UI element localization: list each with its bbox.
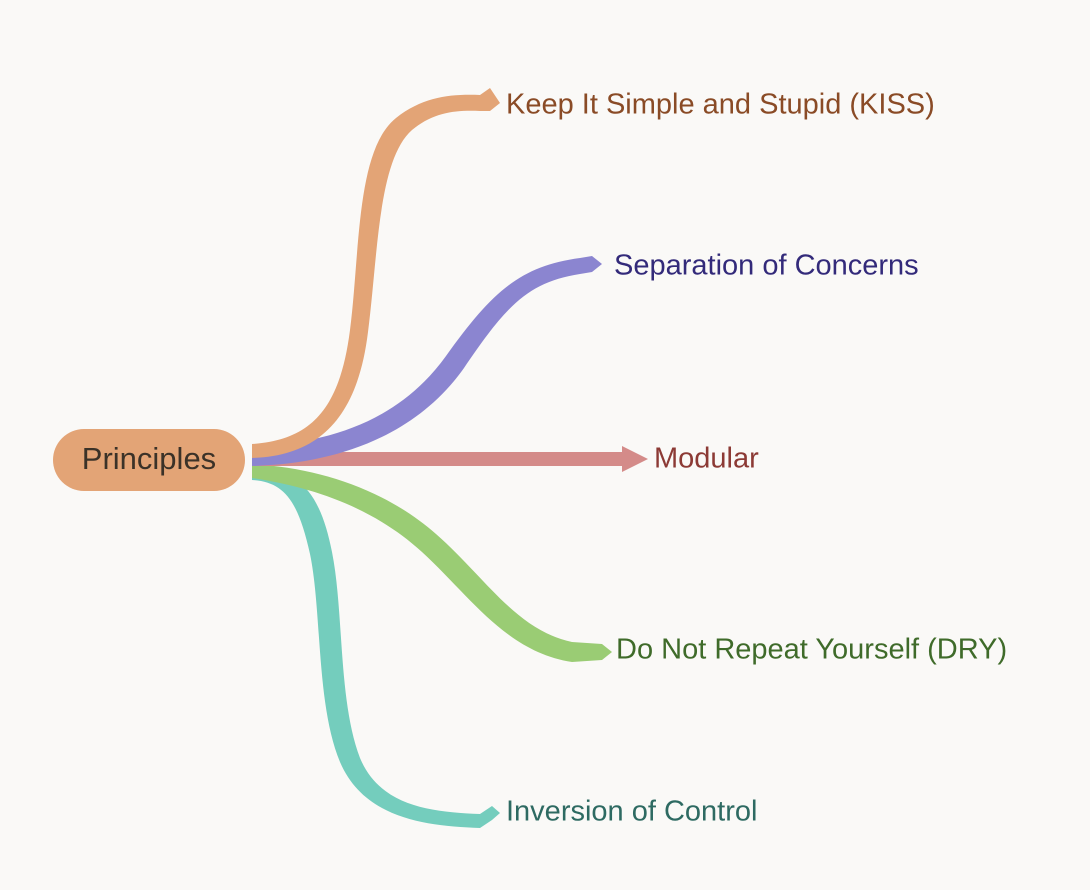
leaf-label-inversion-of-control[interactable]: Inversion of Control [506,796,757,828]
leaf-label-kiss[interactable]: Keep It Simple and Stupid (KISS) [506,89,935,121]
root-node[interactable]: Principles [53,429,245,491]
branch-path-inversion-of-control[interactable] [252,466,500,828]
mindmap-svg: Principles Keep It Simple and Stupid (KI… [0,0,1090,890]
leaf-label-separation-of-concerns[interactable]: Separation of Concerns [614,250,919,282]
root-node-label: Principles [82,441,216,476]
branch-path-kiss[interactable] [252,88,500,458]
leaf-label-dry[interactable]: Do Not Repeat Yourself (DRY) [616,634,1007,666]
mindmap-canvas: Principles Keep It Simple and Stupid (KI… [0,0,1090,890]
leaf-label-modular[interactable]: Modular [654,443,759,475]
